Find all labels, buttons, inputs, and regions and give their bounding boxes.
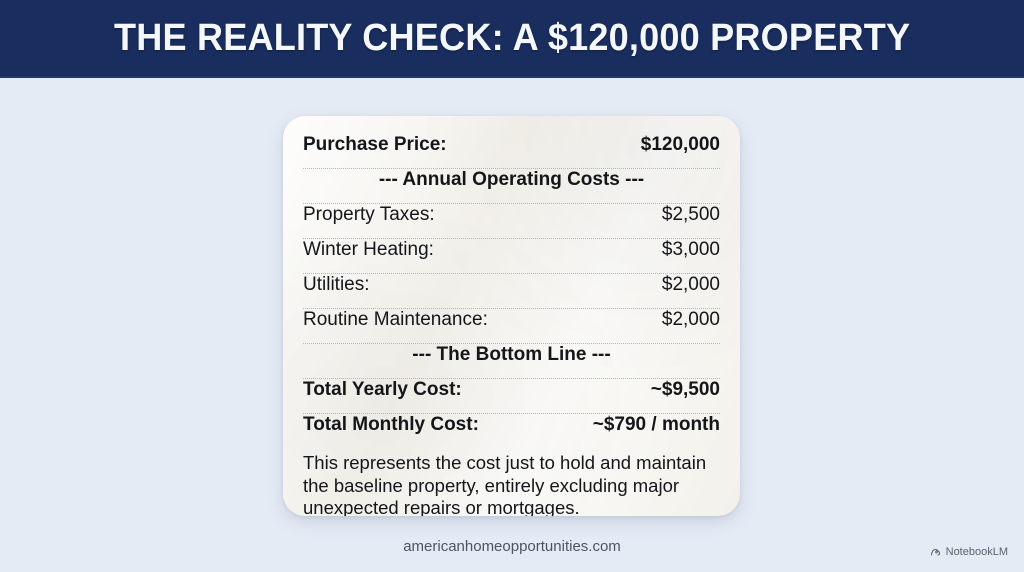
table-row: Utilities: $2,000 [303,274,720,309]
page-title: THE REALITY CHECK: A $120,000 PROPERTY [114,17,910,60]
row-value: $3,000 [662,239,720,261]
row-value: $120,000 [641,134,720,156]
section-header-row: --- The Bottom Line --- [303,344,720,379]
section-label: --- The Bottom Line --- [303,344,720,366]
table-row: Total Monthly Cost: ~$790 / month [303,414,720,448]
row-label: Purchase Price: [303,134,447,156]
section-label: --- Annual Operating Costs --- [303,169,720,191]
explanatory-note: This represents the cost just to hold an… [303,452,720,516]
row-value: ~$9,500 [651,379,720,401]
table-row: Winter Heating: $3,000 [303,239,720,274]
row-value: $2,000 [662,309,720,331]
row-label: Total Monthly Cost: [303,414,479,436]
cost-breakdown-card: Purchase Price: $120,000 --- Annual Oper… [283,116,740,516]
row-label: Property Taxes: [303,204,435,226]
header-band: THE REALITY CHECK: A $120,000 PROPERTY [0,0,1024,78]
notebooklm-watermark: NotebookLM [930,546,1008,558]
row-label: Utilities: [303,274,370,296]
row-value: ~$790 / month [593,414,720,436]
row-label: Total Yearly Cost: [303,379,462,401]
table-row: Purchase Price: $120,000 [303,134,720,169]
row-value: $2,000 [662,274,720,296]
row-value: $2,500 [662,204,720,226]
table-row: Routine Maintenance: $2,000 [303,309,720,344]
table-row: Total Yearly Cost: ~$9,500 [303,379,720,414]
section-header-row: --- Annual Operating Costs --- [303,169,720,204]
table-row: Property Taxes: $2,500 [303,204,720,239]
cost-rows: Purchase Price: $120,000 --- Annual Oper… [303,134,720,448]
footer-url: americanhomeopportunities.com [0,538,1024,555]
row-label: Winter Heating: [303,239,434,261]
notebooklm-logo-icon [930,546,942,558]
row-label: Routine Maintenance: [303,309,488,331]
notebooklm-label: NotebookLM [946,546,1008,558]
